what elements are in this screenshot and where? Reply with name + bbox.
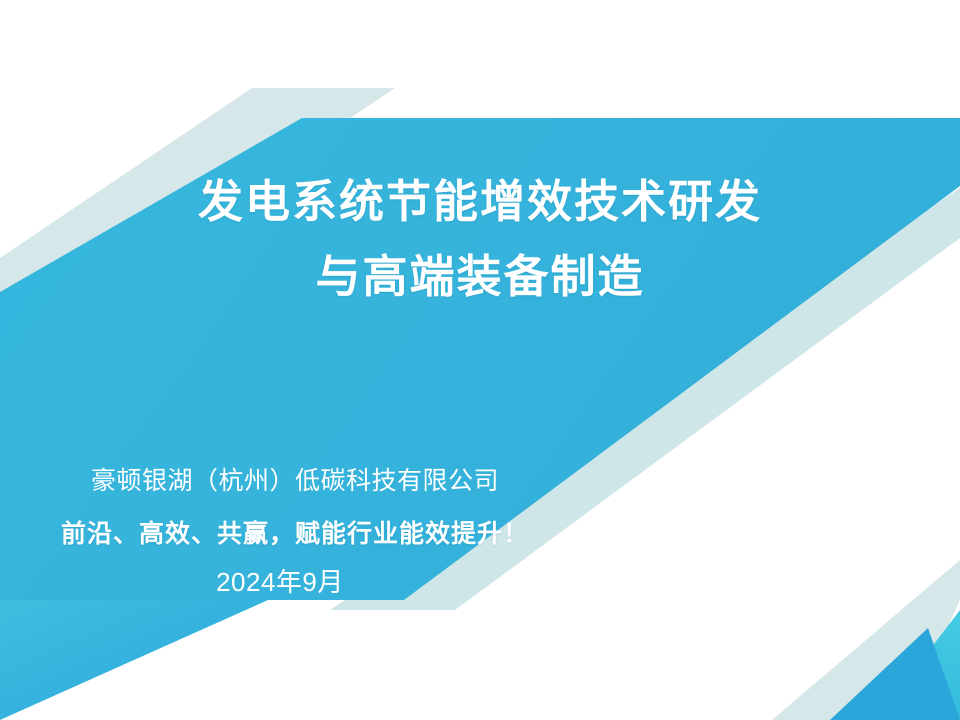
- slide-title-line-1: 发电系统节能增效技术研发: [0, 177, 960, 227]
- presentation-date: 2024年9月: [0, 562, 560, 599]
- slide-title-line-2: 与高端装备制造: [0, 252, 960, 302]
- title-slide: 发电系统节能增效技术研发 与高端装备制造 豪顿银湖（杭州）低碳科技有限公司 前沿…: [0, 0, 960, 720]
- slide-text-layer: 发电系统节能增效技术研发 与高端装备制造 豪顿银湖（杭州）低碳科技有限公司 前沿…: [0, 0, 960, 720]
- company-slogan: 前沿、高效、共赢，赋能行业能效提升！: [0, 514, 590, 550]
- company-name: 豪顿银湖（杭州）低碳科技有限公司: [0, 461, 590, 497]
